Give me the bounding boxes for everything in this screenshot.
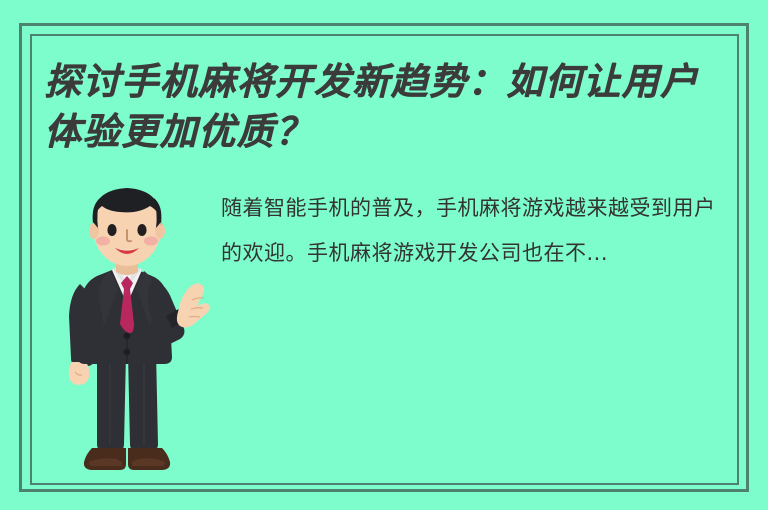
hand-finger-line-3 xyxy=(189,317,200,318)
left-eye xyxy=(107,224,116,236)
left-cheek-blush xyxy=(96,236,110,245)
left-trouser-leg xyxy=(97,351,126,451)
right-eye xyxy=(137,224,146,236)
poster-card: 探讨手机麻将开发新趋势：如何让用户体验更加优质？ xyxy=(0,0,768,510)
businessman-figure-icon xyxy=(42,176,212,481)
left-hand xyxy=(69,362,89,385)
jacket-button-bottom xyxy=(124,349,131,356)
article-excerpt: 随着智能手机的普及，手机麻将游戏越来越受到用户的欢迎。手机麻将游戏开发公司也在不… xyxy=(221,186,729,276)
businessman-illustration xyxy=(42,176,212,481)
page-title: 探讨手机麻将开发新趋势：如何让用户体验更加优质？ xyxy=(44,56,734,156)
right-cheek-blush xyxy=(144,236,158,245)
jacket-button-top xyxy=(124,333,131,340)
right-trouser-leg xyxy=(128,351,158,451)
right-hand-waving xyxy=(177,284,210,328)
